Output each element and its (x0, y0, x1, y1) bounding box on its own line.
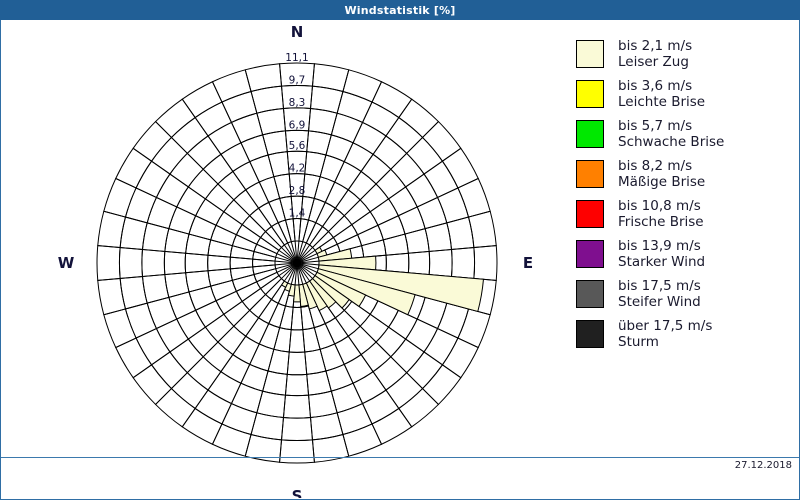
grid-cell (208, 269, 232, 286)
date-stamp: 27.12.2018 (735, 460, 792, 471)
grid-cell (386, 118, 423, 154)
grid-cell (378, 216, 405, 240)
compass-label-e: E (523, 254, 533, 272)
legend-color-swatch (576, 80, 604, 108)
grid-cell (208, 255, 231, 271)
grid-cell (136, 161, 170, 197)
grid-cell (320, 344, 344, 371)
grid-cell (361, 342, 391, 372)
grid-cell (343, 70, 382, 102)
legend-item[interactable]: bis 2,1 m/sLeiser Zug (576, 38, 791, 70)
grid-cell (442, 338, 478, 378)
center-dot (294, 260, 301, 267)
grid-cell (335, 336, 361, 364)
grid-cell (186, 271, 211, 292)
legend-label: bis 5,7 m/sSchwache Brise (618, 118, 724, 150)
legend-speed: bis 2,1 m/s (618, 38, 692, 54)
grid-cell (348, 171, 376, 199)
grid-cell (282, 418, 313, 441)
grid-cell (119, 248, 142, 279)
grid-cell (312, 64, 348, 92)
grid-cell (156, 99, 196, 137)
grid-cell (177, 187, 206, 216)
grid-cell (245, 434, 281, 462)
grid-cell (98, 211, 126, 247)
grid-cell (126, 303, 157, 338)
grid-cell (309, 198, 326, 222)
grid-cell (406, 174, 438, 207)
grid-cell (307, 131, 332, 155)
grid-cell (147, 197, 177, 228)
grid-cell (373, 136, 407, 169)
grid-cell (189, 286, 216, 310)
grid-cell (222, 404, 257, 435)
grid-cell (438, 303, 469, 338)
grid-cell (391, 339, 424, 373)
grid-cell (222, 92, 257, 123)
grid-cell (289, 330, 305, 353)
grid-cell (303, 328, 320, 352)
grid-cell (187, 357, 221, 390)
legend-item[interactable]: bis 3,6 m/sLeichte Brise (576, 78, 791, 110)
legend-color-swatch (576, 120, 604, 148)
grid-cell (203, 154, 233, 184)
grid-cell (188, 169, 218, 199)
radial-tick-label: 8,3 (289, 97, 306, 109)
grid-cell (263, 371, 288, 395)
legend-speed: bis 17,5 m/s (618, 278, 701, 294)
legend-name: Schwache Brise (618, 134, 724, 150)
grid-cell (285, 219, 295, 242)
windrose-window: Windstatistik [%] 1,42,84,25,66,98,39,71… (0, 0, 800, 500)
radial-tick-label: 4,2 (289, 163, 306, 175)
grid-cell (306, 223, 322, 245)
grid-cell (353, 372, 386, 404)
grid-cell (337, 92, 372, 123)
grid-cell (423, 365, 461, 405)
grid-cell (208, 122, 241, 154)
legend-name: Frische Brise (618, 214, 704, 230)
grid-cell (98, 278, 126, 314)
grid-cell (156, 319, 188, 352)
grid-cell (104, 309, 136, 348)
grid-cell (307, 371, 332, 395)
grid-cell (331, 113, 362, 143)
grid-cell (305, 349, 326, 374)
grid-cell (424, 161, 458, 197)
grid-cell (250, 294, 272, 317)
grid-cell (133, 365, 171, 405)
window-title: Windstatistik [%] (344, 4, 455, 17)
legend-color-swatch (576, 40, 604, 68)
grid-cell (263, 131, 288, 155)
grid-cell (136, 329, 170, 365)
grid-cell (407, 352, 443, 389)
grid-cell (188, 327, 218, 357)
grid-cell (383, 234, 408, 255)
grid-cell (165, 229, 189, 254)
grid-cell (353, 122, 386, 154)
footer-divider (1, 457, 799, 458)
legend-color-swatch (576, 320, 604, 348)
legend-color-swatch (576, 240, 604, 268)
legend-label: bis 10,8 m/sFrische Brise (618, 198, 704, 230)
grid-cell (362, 240, 386, 257)
compass-label-n: N (291, 23, 304, 41)
grid-cell (389, 187, 418, 216)
windrose-svg: 1,42,84,25,66,98,39,711,1NESW (1, 20, 561, 498)
legend-item[interactable]: bis 10,8 m/sFrische Brise (576, 198, 791, 230)
grid-cell (442, 148, 478, 188)
grid-cell (242, 216, 265, 238)
legend-color-swatch (576, 280, 604, 308)
grid-cell (348, 326, 376, 354)
grid-cell (405, 229, 429, 254)
legend-name: Mäßige Brise (618, 174, 705, 190)
windrose-chart: 1,42,84,25,66,98,39,711,1NESW (1, 20, 561, 498)
grid-cell (438, 188, 469, 223)
grid-cell (343, 424, 382, 456)
content-frame: 1,42,84,25,66,98,39,711,1NESW bis 2,1 m/… (0, 20, 800, 500)
grid-cell (218, 171, 246, 199)
grid-cell (212, 424, 251, 456)
grid-cell (182, 82, 222, 118)
grid-cell (287, 352, 306, 375)
legend-label: bis 13,9 m/sStarker Wind (618, 238, 705, 270)
grid-cell (221, 355, 250, 384)
grid-cell (203, 342, 233, 372)
grid-cell (185, 253, 208, 272)
legend-item[interactable]: bis 13,9 m/sStarker Wind (576, 238, 791, 270)
grid-cell (429, 249, 452, 276)
grid-cell (406, 319, 438, 352)
grid-cell (458, 309, 490, 348)
grid-cell (344, 143, 373, 172)
grid-cell (458, 178, 490, 217)
grid-cell (182, 408, 222, 444)
grid-cell (164, 251, 185, 274)
grid-cell (233, 162, 259, 190)
grid-cell (245, 64, 281, 92)
grid-cell (142, 249, 165, 276)
grid-cell (170, 339, 203, 373)
grid-cell (280, 306, 293, 330)
grid-cell (322, 208, 344, 231)
legend-item[interactable]: über 17,5 m/sSturm (576, 318, 791, 350)
grid-cell (205, 184, 233, 212)
grid-cell (104, 178, 136, 217)
grid-cell (370, 199, 398, 225)
grid-cell (269, 303, 286, 327)
grid-cell (165, 273, 189, 298)
grid-cell (116, 338, 152, 378)
grid-cell (360, 314, 388, 342)
grid-cell (233, 336, 259, 364)
grid-cell (335, 162, 361, 190)
grid-cell (424, 329, 458, 365)
grid-cell (156, 174, 188, 207)
grid-cell (399, 389, 439, 427)
grid-cell (212, 70, 251, 102)
grid-cell (196, 301, 224, 327)
grid-cell (231, 383, 262, 413)
grid-cell (186, 234, 211, 255)
grid-cell (221, 143, 250, 172)
legend-name: Leichte Brise (618, 94, 705, 110)
grid-cell (97, 246, 120, 281)
legend-name: Steifer Wind (618, 294, 701, 310)
grid-cell (126, 188, 157, 223)
grid-cell (326, 135, 353, 162)
grid-cell (337, 404, 372, 435)
grid-cell (241, 364, 268, 391)
compass-label-s: S (292, 487, 303, 498)
grid-cell (218, 326, 246, 354)
grid-cell (195, 390, 231, 424)
calm-center (275, 241, 319, 285)
legend-speed: bis 3,6 m/s (618, 78, 705, 94)
grid-cell (376, 327, 406, 357)
grid-cell (344, 355, 373, 384)
grid-cell (169, 207, 196, 234)
legend-speed: über 17,5 m/s (618, 318, 712, 334)
grid-cell (363, 390, 399, 424)
grid-cell (195, 102, 231, 136)
grid-cell (361, 154, 391, 184)
grid-cell (407, 137, 443, 174)
grid-cell (268, 349, 289, 374)
radial-tick-label: 11,1 (285, 52, 308, 64)
grid-cell (187, 136, 221, 169)
grid-cell (423, 122, 461, 162)
legend-label: bis 17,5 m/sSteifer Wind (618, 278, 701, 310)
radial-tick-label: 1,4 (289, 208, 306, 220)
grid-cell (283, 395, 310, 418)
grid-cell (373, 357, 407, 390)
grid-cell (391, 153, 424, 187)
grid-cell (152, 137, 188, 174)
grid-cell (372, 82, 412, 118)
grid-cell (452, 248, 475, 279)
grid-cell (208, 372, 241, 404)
grid-cell (285, 374, 308, 395)
grid-cell (205, 314, 233, 342)
grid-cell (408, 251, 429, 274)
grid-cell (116, 148, 152, 188)
grid-cell (171, 118, 208, 154)
grid-cell (268, 152, 289, 177)
window-titlebar: Windstatistik [%] (0, 0, 800, 20)
grid-cell (399, 99, 439, 137)
grid-cell (257, 238, 279, 254)
legend-label: über 17,5 m/sSturm (618, 318, 712, 350)
legend-speed: bis 5,7 m/s (618, 118, 724, 134)
radial-tick-label: 6,9 (289, 119, 306, 131)
grid-cell (386, 253, 409, 272)
grid-cell (376, 169, 406, 199)
grid-cell (312, 434, 348, 462)
legend-label: bis 3,6 m/sLeichte Brise (618, 78, 705, 110)
grid-cell (156, 389, 196, 427)
grid-cell (230, 246, 254, 259)
grid-cell (133, 122, 171, 162)
legend-color-swatch (576, 160, 604, 188)
grid-cell (196, 199, 224, 225)
grid-cell (171, 373, 208, 409)
radial-tick-label: 5,6 (289, 140, 306, 152)
radial-tick-label: 2,8 (289, 185, 306, 197)
legend-item[interactable]: bis 8,2 m/sMäßige Brise (576, 158, 791, 190)
grid-cell (389, 310, 418, 339)
legend-name: Starker Wind (618, 254, 705, 270)
grid-cell (152, 352, 188, 389)
grid-cell (372, 408, 412, 444)
legend-name: Leiser Zug (618, 54, 692, 70)
grid-cell (468, 211, 496, 247)
grid-cell (474, 246, 497, 281)
legend-speed: bis 8,2 m/s (618, 158, 705, 174)
grid-cell (170, 153, 203, 187)
grid-cell (363, 102, 399, 136)
legend-label: bis 2,1 m/sLeiser Zug (618, 38, 692, 70)
grid-cell (250, 155, 274, 182)
legend-speed: bis 13,9 m/s (618, 238, 705, 254)
legend-color-swatch (576, 200, 604, 228)
grid-cell (177, 310, 206, 339)
legend-panel: bis 2,1 m/sLeiser Zugbis 3,6 m/sLeichte … (576, 38, 791, 358)
radial-tick-label: 9,7 (289, 74, 306, 86)
legend-name: Sturm (618, 334, 712, 350)
grid-cell (386, 373, 423, 409)
legend-item[interactable]: bis 17,5 m/sSteifer Wind (576, 278, 791, 310)
grid-cell (232, 235, 256, 252)
grid-cell (305, 152, 326, 177)
compass-label-w: W (58, 254, 75, 272)
grid-cell (280, 440, 315, 463)
legend-item[interactable]: bis 5,7 m/sSchwache Brise (576, 118, 791, 150)
legend-speed: bis 10,8 m/s (618, 198, 704, 214)
legend-label: bis 8,2 m/sMäßige Brise (618, 158, 705, 190)
grid-cell (360, 184, 388, 212)
